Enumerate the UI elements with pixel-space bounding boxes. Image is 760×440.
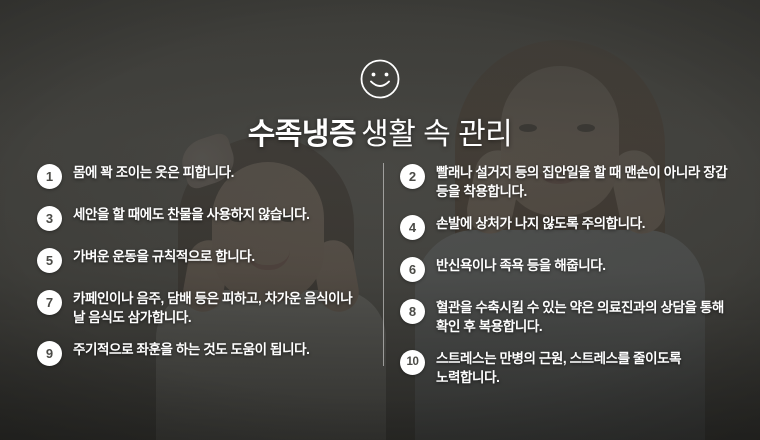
title-keyword: 수족냉증 [248,118,356,151]
tip-number-badge: 4 [400,215,425,240]
tip-text: 빨래나 설거지 등의 집안일을 할 때 맨손이 아니라 장갑 등을 착용합니다. [436,163,736,201]
list-item: 10 스트레스는 만병의 근원, 스트레스를 줄이도록 노력합니다. [400,349,736,387]
tip-text: 손발에 상처가 나지 않도록 주의합니다. [436,214,645,233]
poster-content: 수족냉증생활 속 관리 1 몸에 꽉 조이는 옷은 피합니다. 3 세안을 할 … [0,0,760,440]
tip-text: 혈관을 수축시킬 수 있는 약은 의료진과의 상담을 통해 확인 후 복용합니다… [436,298,736,336]
tip-number-badge: 6 [400,257,425,282]
list-item: 6 반신욕이나 족욕 등을 해줍니다. [400,256,736,282]
smiley-face-icon [359,58,401,105]
tip-number-badge: 10 [400,350,425,375]
page-title: 수족냉증생활 속 관리 [0,116,760,154]
tips-column-right: 2 빨래나 설거지 등의 집안일을 할 때 맨손이 아니라 장갑 등을 착용합니… [0,163,760,403]
tip-number-badge: 8 [400,299,425,324]
tips-columns: 1 몸에 꽉 조이는 옷은 피합니다. 3 세안을 할 때에도 찬물을 사용하지… [0,163,760,403]
tip-text: 스트레스는 만병의 근원, 스트레스를 줄이도록 노력합니다. [436,349,736,387]
list-item: 4 손발에 상처가 나지 않도록 주의합니다. [400,214,736,240]
tip-text: 반신욕이나 족욕 등을 해줍니다. [436,256,606,275]
infographic-poster: 수족냉증생활 속 관리 1 몸에 꽉 조이는 옷은 피합니다. 3 세안을 할 … [0,0,760,440]
tip-number-badge: 2 [400,164,425,189]
list-item: 8 혈관을 수축시킬 수 있는 약은 의료진과의 상담을 통해 확인 후 복용합… [400,298,736,336]
list-item: 2 빨래나 설거지 등의 집안일을 할 때 맨손이 아니라 장갑 등을 착용합니… [400,163,736,201]
title-subtext: 생활 속 관리 [361,118,512,151]
